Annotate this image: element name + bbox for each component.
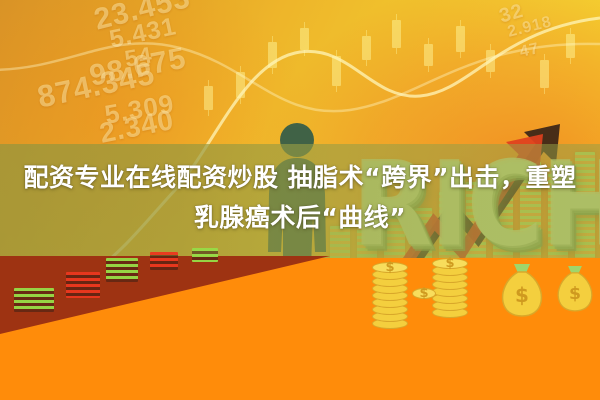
candlestick xyxy=(486,50,495,72)
ticker-block xyxy=(66,272,100,298)
promo-banner: 23.4535.4315498.675874.3455.3092.340322.… xyxy=(0,0,600,400)
candlestick xyxy=(332,56,341,86)
candlestick xyxy=(300,28,309,50)
money-bag: $ xyxy=(500,262,544,317)
ticker-block xyxy=(192,248,218,262)
dollar-sign-icon: $ xyxy=(412,288,436,299)
candlestick xyxy=(456,26,465,52)
money-bag: $ xyxy=(556,264,594,312)
coin-stack: $ xyxy=(372,262,408,336)
coin-stack: $ xyxy=(412,288,436,306)
headline-text: 配资专业在线配资炒股 抽脂术“跨界”出击，重塑 乳腺癌术后“曲线” xyxy=(0,158,600,238)
money-bag-icon: $ xyxy=(500,262,544,317)
candlestick xyxy=(424,44,433,66)
ticker-block xyxy=(106,258,138,282)
candlestick xyxy=(566,34,575,58)
candlestick xyxy=(268,42,277,68)
ticker-block xyxy=(14,288,54,312)
ticker-block xyxy=(150,252,178,270)
coin-stack: $ xyxy=(432,258,468,325)
headline-line-1: 配资专业在线配资炒股 抽脂术“跨界”出击，重塑 xyxy=(23,163,576,192)
candlestick xyxy=(540,60,549,88)
money-bag-icon: $ xyxy=(556,264,594,312)
svg-text:$: $ xyxy=(569,284,581,304)
candlestick xyxy=(204,86,213,110)
candlestick xyxy=(392,20,401,48)
candlestick xyxy=(362,36,371,60)
svg-text:$: $ xyxy=(515,283,529,307)
dollar-sign-icon: $ xyxy=(372,262,408,273)
candlestick xyxy=(236,72,245,98)
dollar-sign-icon: $ xyxy=(432,258,468,269)
headline-line-2: 乳腺癌术后“曲线” xyxy=(194,203,406,232)
